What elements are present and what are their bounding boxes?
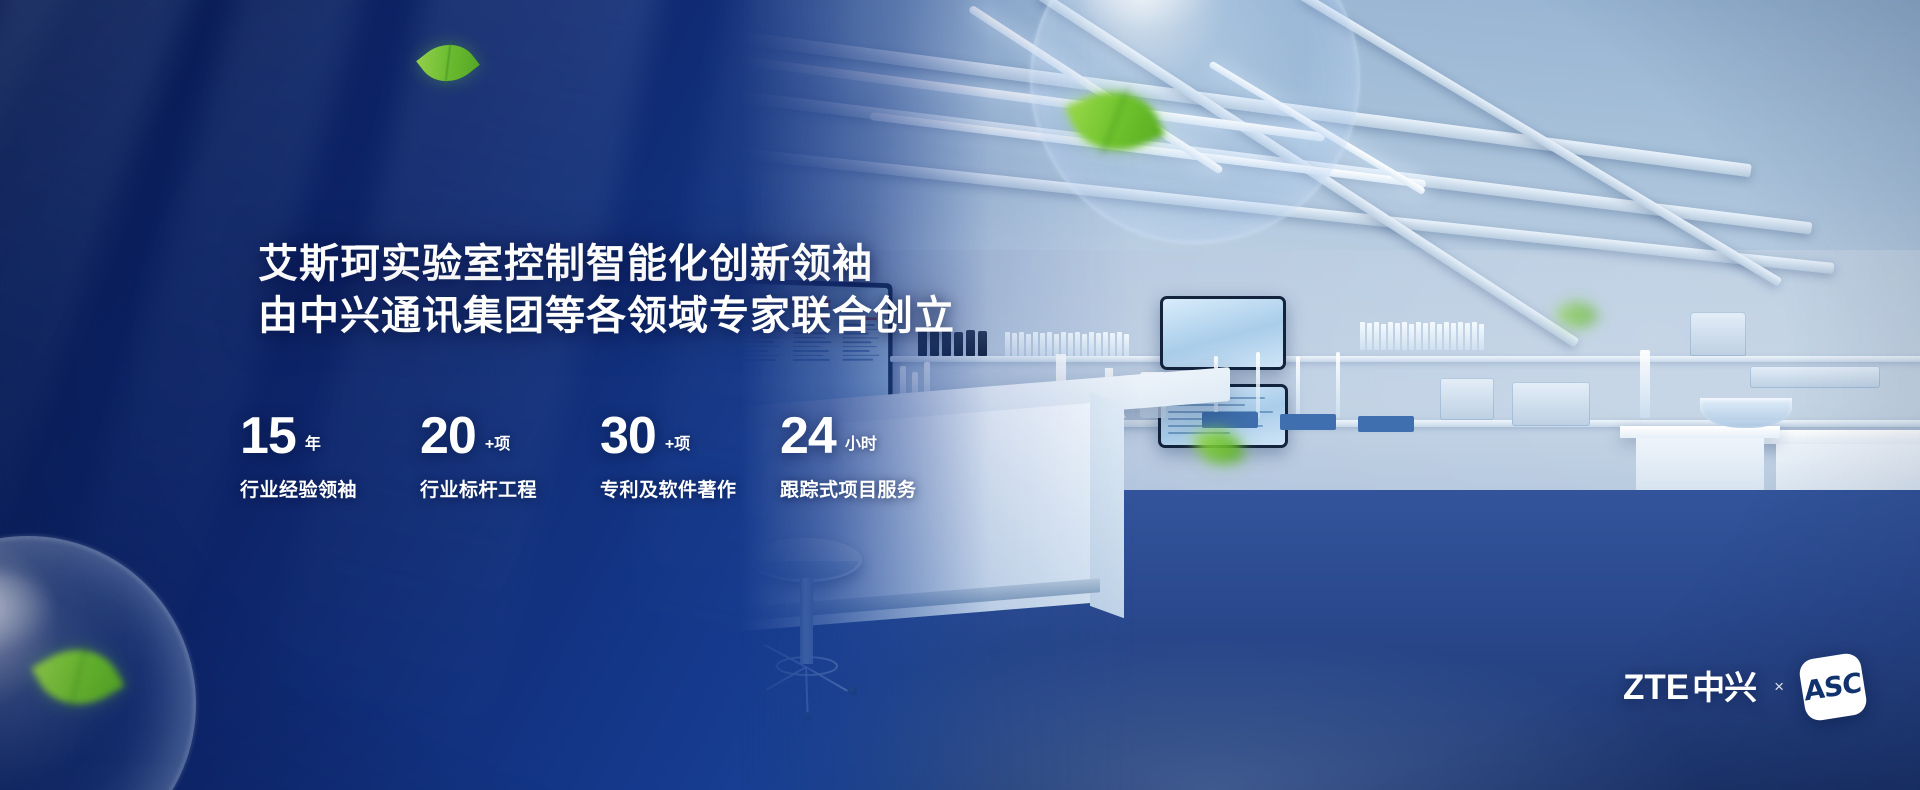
leaf-decoration bbox=[416, 32, 480, 95]
stat-item: 24 小时 跟踪式项目服务 bbox=[780, 412, 960, 502]
burette bbox=[1336, 352, 1340, 418]
stat-item: 20 +项 行业标杆工程 bbox=[420, 412, 600, 502]
light-ray bbox=[0, 0, 295, 790]
headline-block: 艾斯珂实验室控制智能化创新领袖 由中兴通讯集团等各领域专家联合创立 bbox=[258, 238, 955, 342]
stat-label: 行业标杆工程 bbox=[420, 475, 600, 502]
lab-monitor-screen bbox=[1163, 299, 1283, 367]
zte-logo-chinese: 中兴 bbox=[1692, 671, 1756, 704]
stat-item: 30 +项 专利及软件著作 bbox=[600, 412, 780, 502]
light-ray bbox=[222, 0, 727, 790]
burette bbox=[1296, 356, 1300, 418]
burette bbox=[1256, 352, 1260, 418]
ceiling-beam bbox=[1298, 0, 1783, 287]
wall-control-panel bbox=[1750, 366, 1880, 388]
light-ray bbox=[0, 0, 187, 726]
stat-unit: +项 bbox=[485, 430, 510, 454]
stats-row: 15 年 行业经验领袖 20 +项 行业标杆工程 30 +项 专利及软件著作 2… bbox=[240, 412, 960, 502]
zte-logo: ZTE 中兴 bbox=[1623, 670, 1756, 705]
headline-line-2: 由中兴通讯集团等各领域专家联合创立 bbox=[258, 290, 955, 342]
lab-analyzer bbox=[1512, 382, 1590, 426]
light-ray bbox=[2, 0, 448, 790]
test-tube-rack bbox=[1360, 322, 1484, 350]
stat-number: 15 bbox=[240, 412, 296, 461]
faucet-column bbox=[1640, 350, 1650, 418]
asc-logo: ASC bbox=[1798, 652, 1869, 723]
storage-canister bbox=[1690, 312, 1746, 356]
lab-monitor bbox=[1160, 296, 1286, 370]
stat-item: 15 年 行业经验领袖 bbox=[240, 412, 420, 502]
sample-rack bbox=[1358, 416, 1414, 432]
logo-lockup: ZTE 中兴 × ASC bbox=[1623, 656, 1864, 718]
stat-label: 行业经验领袖 bbox=[240, 475, 420, 502]
sample-rack bbox=[1202, 412, 1258, 428]
bubble-decoration bbox=[0, 536, 196, 790]
stat-label: 专利及软件著作 bbox=[600, 475, 780, 502]
stat-unit: 小时 bbox=[845, 430, 877, 454]
lab-ceiling bbox=[740, 0, 1920, 250]
lab-instrument bbox=[1440, 378, 1494, 420]
headline-line-1: 艾斯珂实验室控制智能化创新领袖 bbox=[258, 238, 955, 290]
stat-label: 跟踪式项目服务 bbox=[780, 475, 960, 502]
logo-separator: × bbox=[1774, 677, 1784, 697]
hero-banner: 实验室管理制度 bbox=[0, 0, 1920, 790]
sample-rack bbox=[1280, 414, 1336, 430]
stat-unit: 年 bbox=[305, 430, 321, 454]
stat-unit: +项 bbox=[665, 430, 690, 454]
stat-number: 30 bbox=[600, 412, 656, 461]
zte-logo-latin: ZTE bbox=[1623, 670, 1689, 705]
stat-number: 24 bbox=[780, 412, 836, 461]
leaf-decoration bbox=[31, 632, 124, 722]
wall-shelf bbox=[890, 356, 1920, 362]
asc-logo-text: ASC bbox=[1804, 667, 1862, 707]
lab-stool bbox=[750, 538, 876, 728]
test-tube-rack bbox=[1005, 332, 1129, 356]
stat-number: 20 bbox=[420, 412, 476, 461]
